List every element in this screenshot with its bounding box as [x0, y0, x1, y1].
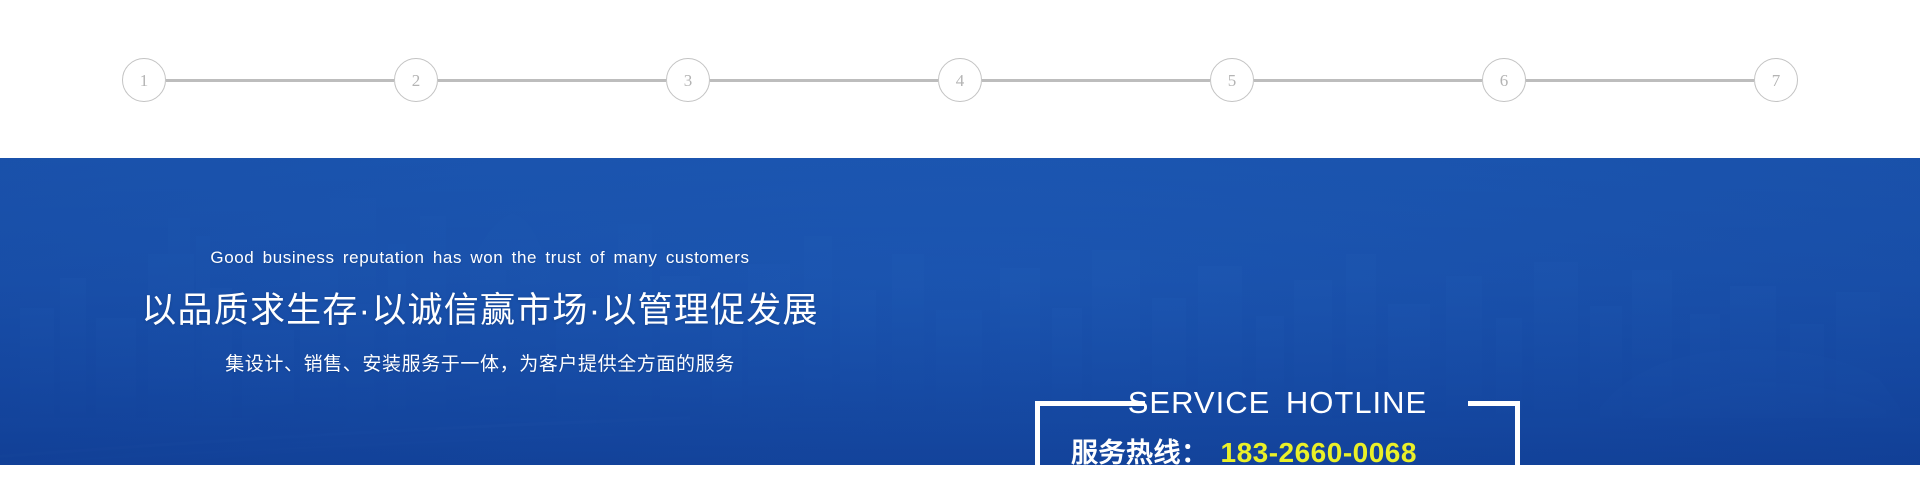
step-node-5[interactable]: 5 [1210, 58, 1254, 102]
step-node-7[interactable]: 7 [1754, 58, 1798, 102]
step-progress-bar: 1 2 3 4 5 6 7 [122, 58, 1798, 102]
hotline-phone-primary[interactable]: 183-2660-0068 [1221, 437, 1417, 465]
step-number-label: 5 [1228, 72, 1237, 89]
promo-banner: Good business reputation has won the tru… [0, 158, 1920, 465]
step-node-1[interactable]: 1 [122, 58, 166, 102]
step-number-label: 1 [140, 72, 149, 89]
step-node-3[interactable]: 3 [666, 58, 710, 102]
step-connector-3-4 [710, 79, 938, 82]
step-connector-4-5 [982, 79, 1210, 82]
hotline-primary-row: 服务热线： 183-2660-0068 [1071, 431, 1498, 465]
step-connector-5-6 [1254, 79, 1482, 82]
promo-english-tagline: Good business reputation has won the tru… [210, 248, 749, 268]
hotline-title: SERVICE HOTLINE [1035, 381, 1520, 425]
page-root: 1 2 3 4 5 6 7 [0, 0, 1920, 500]
promo-text-block: Good business reputation has won the tru… [0, 158, 960, 465]
bottom-white-strip [0, 465, 1920, 500]
step-connector-2-3 [438, 79, 666, 82]
step-node-6[interactable]: 6 [1482, 58, 1526, 102]
step-connector-1-2 [166, 79, 394, 82]
step-connector-6-7 [1526, 79, 1754, 82]
step-number-label: 6 [1500, 72, 1509, 89]
step-number-label: 4 [956, 72, 965, 89]
hotline-numbers-block: 服务热线： 183-2660-0068 0551-63749777 [1035, 431, 1520, 465]
hotline-label: 服务热线： [1071, 431, 1209, 465]
stepper-section: 1 2 3 4 5 6 7 [0, 0, 1920, 158]
service-hotline-panel: SERVICE HOTLINE 服务热线： 183-2660-0068 0551… [1035, 401, 1520, 465]
step-node-4[interactable]: 4 [938, 58, 982, 102]
promo-chinese-subtitle: 集设计、销售、安装服务于一体，为客户提供全方面的服务 [225, 349, 735, 376]
step-number-label: 3 [684, 72, 693, 89]
promo-chinese-slogan: 以品质求生存·以诚信赢市场·以管理促发展 [141, 282, 818, 333]
step-node-2[interactable]: 2 [394, 58, 438, 102]
step-number-label: 2 [412, 72, 421, 89]
step-number-label: 7 [1772, 72, 1781, 89]
